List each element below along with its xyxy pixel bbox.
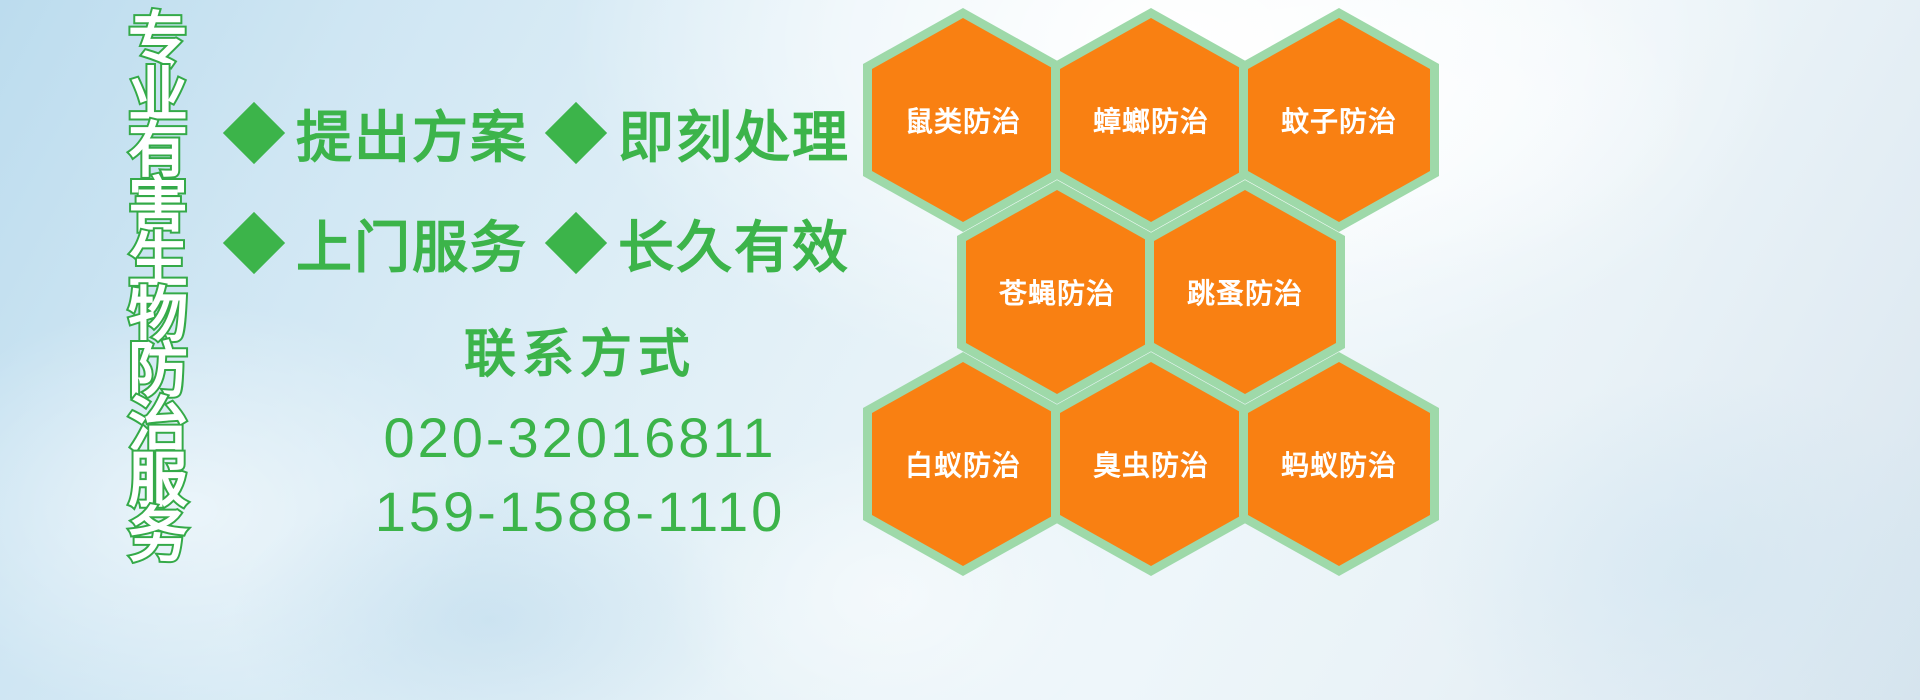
hex-inner: 白蚁防治 xyxy=(872,362,1054,566)
contact-title: 联系方式 xyxy=(300,312,860,387)
feature-item: 提出方案 xyxy=(232,93,528,174)
hex-inner: 跳蚤防治 xyxy=(1154,190,1336,394)
service-label: 白蚁防治 xyxy=(905,444,1021,484)
feature-row: 提出方案 即刻处理 xyxy=(232,78,872,188)
service-label: 蚂蚁防治 xyxy=(1281,444,1397,484)
hex-inner: 臭虫防治 xyxy=(1060,362,1242,566)
hex-inner: 蟑螂防治 xyxy=(1060,18,1242,222)
hex-inner: 蚊子防治 xyxy=(1248,18,1430,222)
feature-label: 长久有效 xyxy=(618,203,850,284)
phone-number-landline[interactable]: 020-32016811 xyxy=(300,401,860,475)
service-label: 苍蝇防治 xyxy=(999,272,1115,312)
service-label: 鼠类防治 xyxy=(905,100,1021,140)
diamond-icon xyxy=(223,212,285,274)
phone-number-mobile[interactable]: 159-1588-1110 xyxy=(300,475,860,549)
service-label: 跳蚤防治 xyxy=(1187,272,1303,312)
feature-row: 上门服务 长久有效 xyxy=(232,188,872,298)
feature-label: 提出方案 xyxy=(296,93,528,174)
feature-item: 上门服务 xyxy=(232,203,528,284)
vertical-slogan-char: 务 xyxy=(128,509,188,564)
background-glow-d xyxy=(1420,380,1920,700)
services-hex-grid: 鼠类防治 蟑螂防治 蚊子防治 苍蝇防治 跳蚤防治 白蚁防治 xyxy=(855,0,1475,560)
feature-label: 上门服务 xyxy=(296,203,528,284)
pest-control-banner: 专 业 有 害 生 物 防 治 服 务 提出方案 即刻处理 上门服务 xyxy=(0,0,1920,700)
diamond-icon xyxy=(545,212,607,274)
hex-inner: 鼠类防治 xyxy=(872,18,1054,222)
diamond-icon xyxy=(545,102,607,164)
service-label: 蚊子防治 xyxy=(1281,100,1397,140)
diamond-icon xyxy=(223,102,285,164)
service-label: 蟑螂防治 xyxy=(1093,100,1209,140)
hex-inner: 蚂蚁防治 xyxy=(1248,362,1430,566)
feature-list: 提出方案 即刻处理 上门服务 长久有效 xyxy=(232,78,872,298)
feature-label: 即刻处理 xyxy=(618,93,850,174)
feature-item: 长久有效 xyxy=(554,203,850,284)
contact-block: 联系方式 020-32016811 159-1588-1110 xyxy=(300,312,860,549)
vertical-slogan: 专 业 有 害 生 物 防 治 服 务 xyxy=(104,14,212,574)
service-label: 臭虫防治 xyxy=(1093,444,1209,484)
feature-item: 即刻处理 xyxy=(554,93,850,174)
hex-inner: 苍蝇防治 xyxy=(966,190,1148,394)
